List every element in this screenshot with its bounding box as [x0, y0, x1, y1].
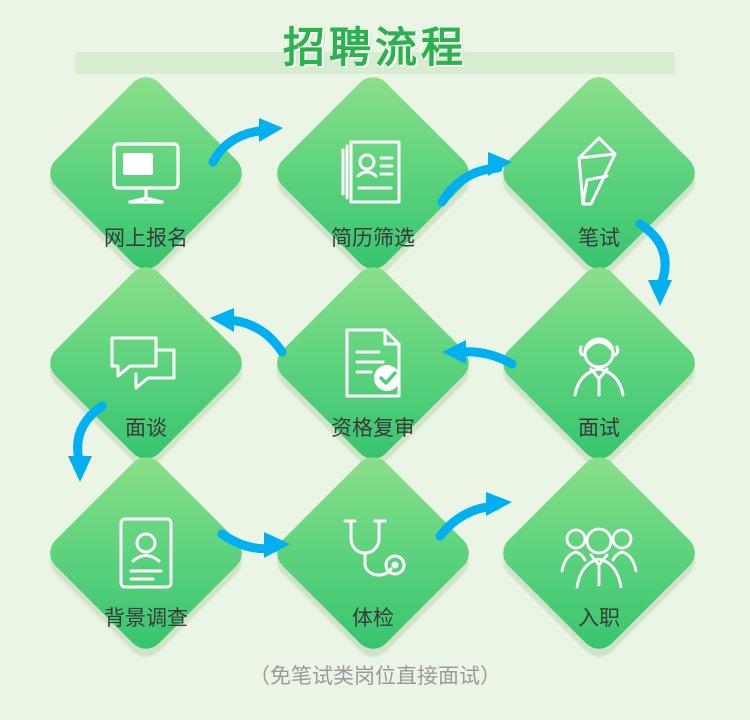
flow-arrow-application-to-screening	[205, 118, 297, 183]
recruitment-flow-diagram: 网上报名 简历筛选	[0, 100, 750, 640]
flow-node-label: 简历筛选	[273, 222, 473, 252]
flow-node-onboarding[interactable]: 入职	[499, 480, 699, 650]
flow-arrow-screening-to-written-exam	[434, 150, 526, 217]
flow-node-label: 网上报名	[46, 222, 246, 252]
flow-node-label: 背景调查	[46, 602, 246, 632]
flow-arrow-written-exam-to-interview	[630, 218, 684, 319]
flow-node-label: 体检	[273, 602, 473, 632]
footnote-text: （免笔试类岗位直接面试）	[0, 660, 750, 690]
flow-arrow-medical-to-onboarding	[434, 490, 526, 551]
flow-node-label: 入职	[499, 602, 699, 632]
flow-arrow-review-to-talk	[196, 308, 292, 367]
flow-arrow-interview-to-review	[432, 338, 522, 383]
flow-node-label: 面试	[499, 412, 699, 442]
flow-arrow-talk-to-background-check	[62, 400, 114, 491]
page-title: 招聘流程	[0, 14, 750, 75]
flow-arrow-background-check-to-medical	[216, 520, 300, 569]
flow-node-label: 资格复审	[273, 412, 473, 442]
